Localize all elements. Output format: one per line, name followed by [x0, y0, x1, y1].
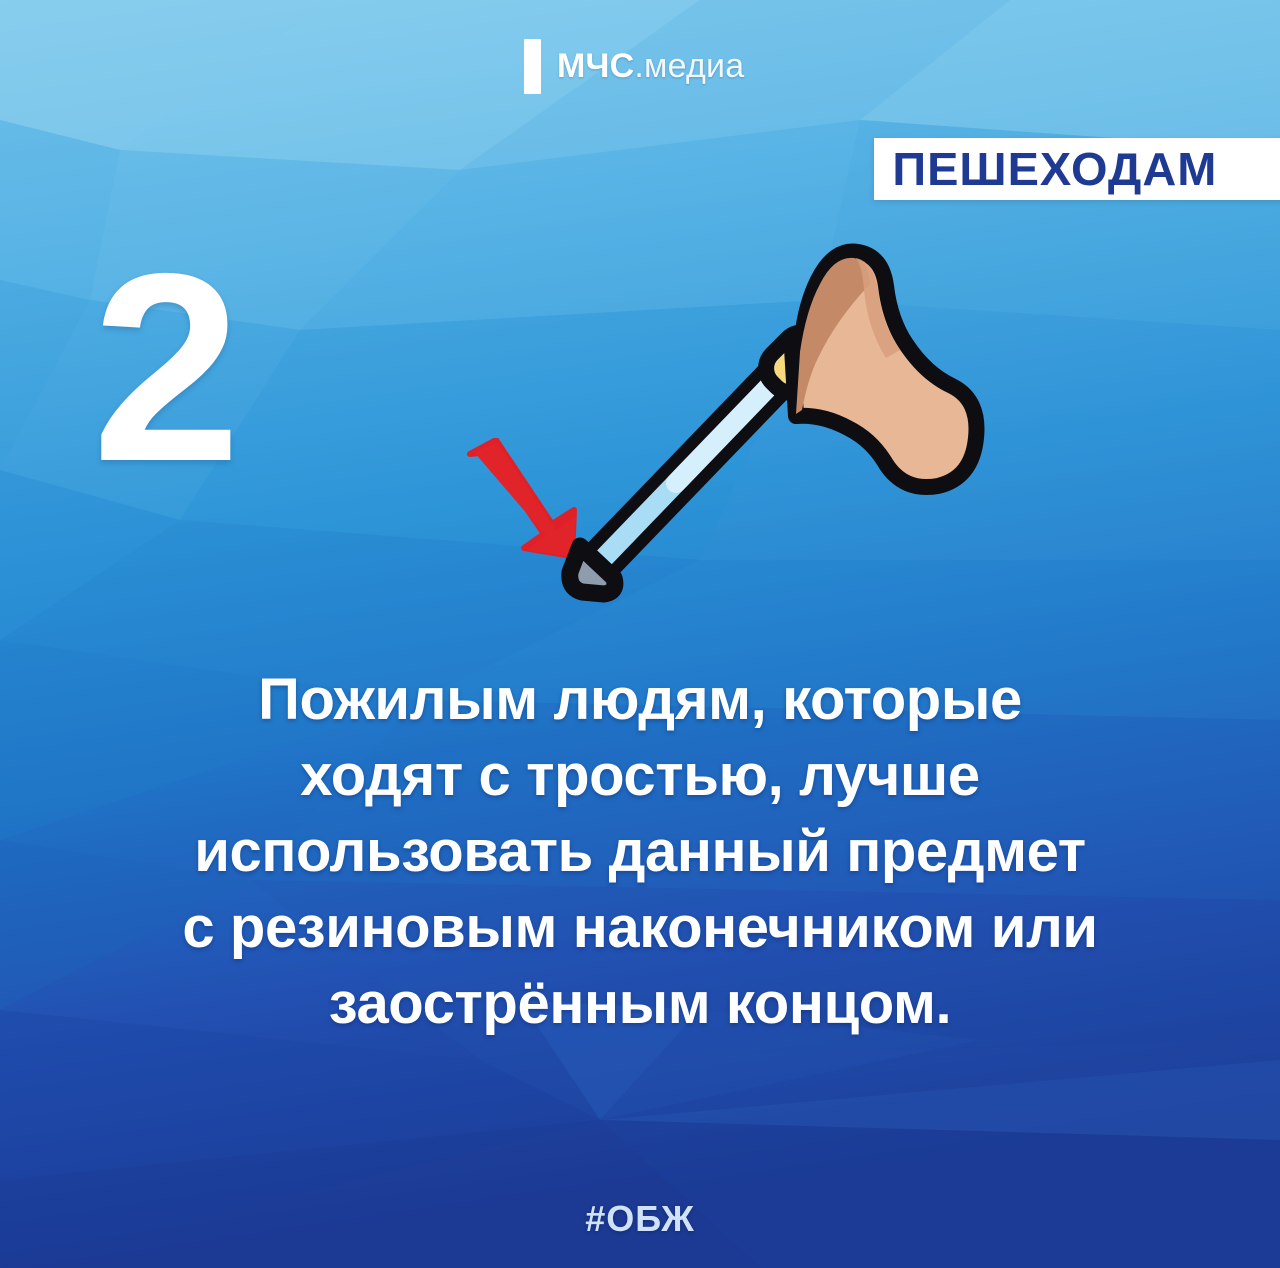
category-badge: ПЕШЕХОДАМ: [874, 138, 1280, 200]
brand-name-bold: МЧС: [557, 47, 634, 85]
footer-hashtag: #ОБЖ: [0, 1198, 1280, 1240]
category-badge-label: ПЕШЕХОДАМ: [874, 146, 1217, 192]
vertical-bar-icon: [524, 39, 541, 94]
body-copy-line: ходят с тростью, лучше: [56, 738, 1224, 814]
brand-logo-text: МЧС.медиа: [557, 49, 744, 83]
step-number: 2: [92, 258, 235, 478]
infographic-poster: МЧС.медиа ПЕШЕХОДАМ 2: [0, 0, 1280, 1268]
body-copy-line: Пожилым людям, которые: [56, 662, 1224, 738]
brand-name-light: .медиа: [634, 47, 744, 85]
body-copy-line: использовать данный предмет: [56, 814, 1224, 890]
body-copy-line: заострённым концом.: [56, 966, 1224, 1042]
body-copy: Пожилым людям, которые ходят с тростью, …: [56, 662, 1224, 1042]
walking-cane-icon: [556, 228, 986, 618]
body-copy-line: с резиновым наконечником или: [56, 890, 1224, 966]
brand-logo: МЧС.медиа: [524, 36, 744, 96]
